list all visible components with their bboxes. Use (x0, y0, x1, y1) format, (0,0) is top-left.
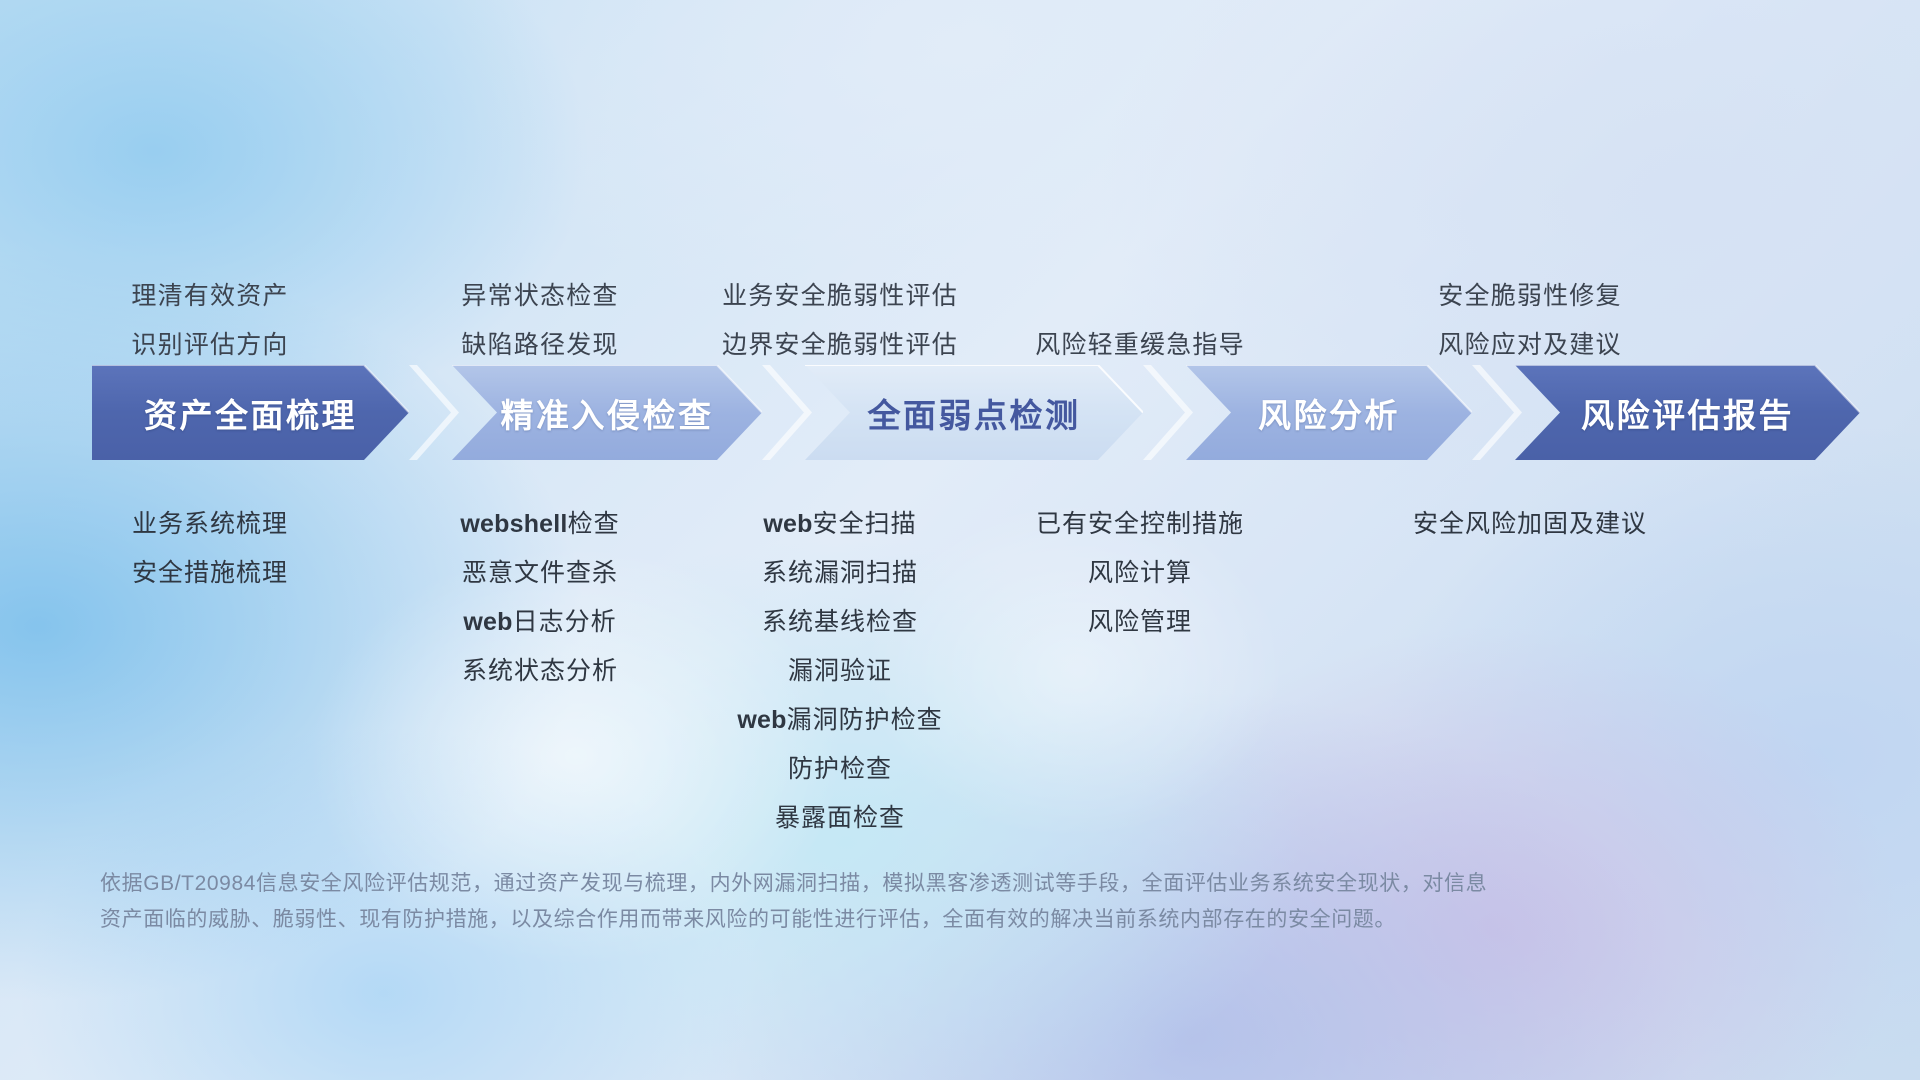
footer-description: 依据GB/T20984信息安全风险评估规范，通过资产发现与梳理，内外网漏洞扫描，… (100, 866, 1600, 938)
bottom-item-latin: web (763, 510, 812, 538)
bottom-item-cn: 防护检查 (788, 755, 892, 783)
bottom-item: web漏洞防护检查 (737, 696, 942, 745)
process-stage-1[interactable]: 资产全面梳理 (92, 365, 409, 460)
bottom-item-cn: 风险计算 (1088, 559, 1192, 587)
top-item: 缺陷路径发现 (461, 321, 618, 370)
bottom-item: 系统基线检查 (762, 598, 918, 647)
bottom-item-cn: 漏洞验证 (788, 657, 892, 685)
process-stage-5[interactable]: 风险评估报告 (1515, 365, 1860, 460)
stage-top-items-1: 理清有效资产 识别评估方向 (60, 272, 360, 370)
top-item: 安全脆弱性修复 (1438, 272, 1621, 321)
stage-top-items-2: 异常状态检查 缺陷路径发现 (390, 272, 690, 370)
stage-bottom-items-2: webshell检查 恶意文件查杀 web日志分析 系统状态分析 (390, 500, 690, 696)
bottom-item: 系统漏洞扫描 (762, 549, 918, 598)
bottom-item: web安全扫描 (763, 500, 916, 549)
bottom-item-cn: 风险管理 (1088, 608, 1192, 636)
top-item: 识别评估方向 (131, 321, 288, 370)
process-stage-label: 资产全面梳理 (144, 389, 357, 437)
bottom-item-cn: 已有安全控制措施 (1036, 510, 1244, 538)
bottom-item-cn: 业务系统梳理 (132, 510, 288, 538)
footer-line-1: 依据GB/T20984信息安全风险评估规范，通过资产发现与梳理，内外网漏洞扫描，… (100, 866, 1600, 902)
top-item: 异常状态检查 (461, 272, 618, 321)
bottom-item-cn: 漏洞防护检查 (787, 706, 943, 734)
bottom-item-cn: 暴露面检查 (775, 804, 905, 832)
top-item: 业务安全脆弱性评估 (722, 272, 958, 321)
bottom-item: 恶意文件查杀 (462, 549, 618, 598)
bottom-item-latin: web (737, 706, 786, 734)
bottom-item: 业务系统梳理 (132, 500, 288, 549)
process-stage-2[interactable]: 精准入侵检查 (452, 365, 762, 460)
bottom-item: 漏洞验证 (788, 647, 892, 696)
process-arrow-band: 资产全面梳理 精准入侵检查 (0, 365, 1920, 460)
bottom-item-cn: 安全措施梳理 (132, 559, 288, 587)
bottom-item-latin: web (463, 608, 512, 636)
process-stage-label: 风险评估报告 (1581, 389, 1794, 437)
bottom-item-cn: 恶意文件查杀 (462, 559, 618, 587)
process-stage-3[interactable]: 全面弱点检测 (805, 365, 1143, 460)
bottom-item: 暴露面检查 (775, 794, 905, 843)
bottom-item-cn: 检查 (568, 510, 620, 538)
top-item: 风险应对及建议 (1438, 321, 1621, 370)
stage-bottom-items-5: 安全风险加固及建议 (1330, 500, 1730, 549)
bottom-item: webshell检查 (460, 500, 619, 549)
process-stage-4[interactable]: 风险分析 (1186, 365, 1472, 460)
bottom-item-latin: webshell (460, 510, 567, 538)
process-stage-label: 风险分析 (1258, 389, 1400, 437)
bottom-item-cn: 系统状态分析 (462, 657, 618, 685)
stage-bottom-items-1: 业务系统梳理 安全措施梳理 (60, 500, 360, 598)
bottom-item: 安全措施梳理 (132, 549, 288, 598)
process-stage-label: 精准入侵检查 (501, 389, 714, 437)
stage-top-items-4: 风险轻重缓急指导 (960, 321, 1320, 370)
bottom-item: 风险管理 (1088, 598, 1192, 647)
bottom-item-cn: 安全扫描 (813, 510, 917, 538)
stage-top-items-5: 安全脆弱性修复 风险应对及建议 (1330, 272, 1730, 370)
footer-line-2: 资产面临的威胁、脆弱性、现有防护措施，以及综合作用而带来风险的可能性进行评估，全… (100, 902, 1600, 938)
bottom-item: 防护检查 (788, 745, 892, 794)
bottom-item: web日志分析 (463, 598, 616, 647)
top-item: 风险轻重缓急指导 (1035, 321, 1245, 370)
bottom-item-cn: 系统基线检查 (762, 608, 918, 636)
bottom-item: 系统状态分析 (462, 647, 618, 696)
top-item: 边界安全脆弱性评估 (722, 321, 958, 370)
bottom-item-cn: 日志分析 (513, 608, 617, 636)
top-item: 理清有效资产 (131, 272, 288, 321)
bottom-item: 已有安全控制措施 (1036, 500, 1244, 549)
stage-bottom-items-4: 已有安全控制措施 风险计算 风险管理 (960, 500, 1320, 647)
bottom-item-cn: 系统漏洞扫描 (762, 559, 918, 587)
bottom-item-cn: 安全风险加固及建议 (1413, 510, 1647, 538)
slide-canvas: 理清有效资产 识别评估方向 业务系统梳理 安全措施梳理 异常状态检查 缺陷路径发… (0, 0, 1920, 1080)
bottom-item: 风险计算 (1088, 549, 1192, 598)
bottom-item: 安全风险加固及建议 (1413, 500, 1647, 549)
process-stage-label: 全面弱点检测 (868, 389, 1081, 437)
